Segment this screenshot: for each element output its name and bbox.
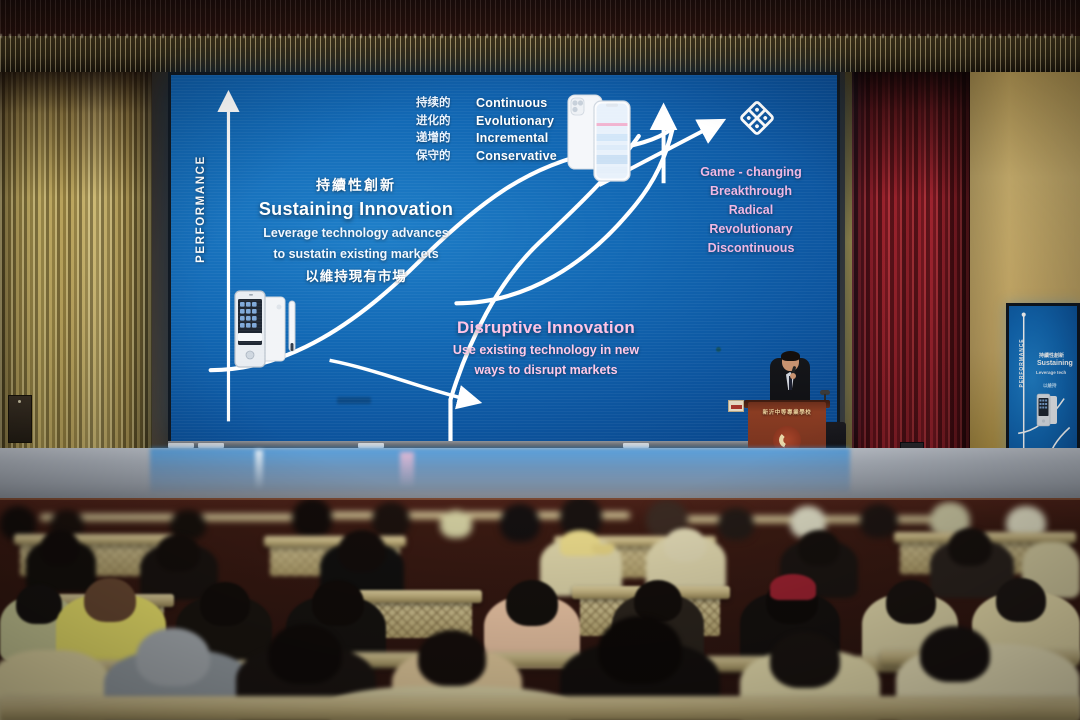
slide-watermark xyxy=(337,397,371,404)
auxiliary-display: PERFORMANCE 持續性創新 Sustaining Leverage te… xyxy=(1006,303,1080,470)
attr-en-1: Evolutionary xyxy=(476,113,557,131)
disruptive-subtitle-line2: ways to disrupt markets xyxy=(421,362,671,378)
attr-cn-0: 持续的 xyxy=(416,95,451,113)
cap-brim-icon xyxy=(592,544,614,555)
red-beanie-icon xyxy=(770,574,816,600)
speaker-hair xyxy=(781,351,800,361)
sustaining-title: Sustaining Innovation xyxy=(231,199,481,220)
aux-cn-heading: 持續性創新 xyxy=(1039,352,1064,359)
audience-head xyxy=(886,580,936,624)
aux-performance-label: PERFORMANCE xyxy=(1019,333,1025,393)
audience-head xyxy=(718,508,754,540)
audience-head xyxy=(770,632,840,688)
knot-diamond-logo-icon xyxy=(739,100,775,136)
stage-pink-reflection xyxy=(400,452,414,488)
disruptive-innovation-block: Disruptive Innovation Use existing techn… xyxy=(421,318,671,378)
audience-head xyxy=(292,500,332,538)
audience-head xyxy=(200,582,250,626)
audience-head xyxy=(506,580,558,626)
game-changing-item-3: Revolutionary xyxy=(676,220,826,239)
attr-cn-3: 保守的 xyxy=(416,148,451,166)
modern-smartphone-icon xyxy=(566,87,638,191)
attr-cn-1: 进化的 xyxy=(416,113,451,131)
performance-axis-label: PERFORMANCE xyxy=(195,149,207,269)
attr-en-3: Conservative xyxy=(476,148,557,166)
sustaining-subtitle-line1: Leverage technology advances xyxy=(231,225,481,241)
audience-head xyxy=(16,584,62,624)
wall-box-indicator-icon xyxy=(18,400,21,403)
presentation-slide: PERFORMANCE 持续的 进化的 递增的 保守的 Continuous E… xyxy=(171,75,837,441)
sustaining-subtitle-line2: to sustatin existing markets xyxy=(231,246,481,262)
audience-head xyxy=(860,504,898,538)
audience-head xyxy=(598,616,682,684)
aux-title: Sustaining xyxy=(1037,360,1073,367)
sustaining-cn-heading: 持續性創新 xyxy=(231,175,481,195)
speaker-hand xyxy=(790,373,796,379)
game-changing-item-1: Breakthrough xyxy=(676,182,826,201)
audience-head xyxy=(440,510,472,538)
audience-hood xyxy=(136,628,210,686)
audience-head xyxy=(996,578,1046,622)
audience-head xyxy=(84,578,136,622)
valance-light-strip xyxy=(0,34,1080,38)
disruptive-subtitle-line1: Use existing technology in new xyxy=(421,342,671,358)
audience-head xyxy=(948,528,992,566)
foreground-bench-rail xyxy=(0,696,1080,720)
stage-highlight-reflection xyxy=(255,450,263,490)
audience-head xyxy=(372,502,410,538)
audience-head xyxy=(40,530,80,566)
audience-head xyxy=(312,580,364,626)
disruptive-title: Disruptive Innovation xyxy=(421,318,671,338)
game-changing-item-2: Radical xyxy=(676,201,826,220)
audience-head xyxy=(338,530,386,572)
slide-speck xyxy=(716,347,721,352)
attribute-english-column: Continuous Evolutionary Incremental Cons… xyxy=(476,95,557,165)
sustaining-cn-subtitle: 以維持現有市場 xyxy=(231,265,481,285)
auxiliary-slide: PERFORMANCE 持續性創新 Sustaining Leverage te… xyxy=(1009,306,1077,467)
attr-en-2: Incremental xyxy=(476,130,557,148)
aux-cn-subtitle: 以維持 xyxy=(1043,383,1057,389)
legacy-smartphone-icon xyxy=(231,283,303,379)
audience-area xyxy=(0,500,1080,720)
audience-head xyxy=(156,534,200,572)
attr-en-0: Continuous xyxy=(476,95,557,113)
audience-head xyxy=(920,626,990,682)
podium-name-plate xyxy=(728,400,744,412)
audience-head xyxy=(798,530,840,566)
aux-phone-icon xyxy=(1036,392,1062,428)
game-changing-item-4: Discontinuous xyxy=(676,239,826,258)
game-changing-list: Game - changing Breakthrough Radical Rev… xyxy=(676,163,826,258)
audience-head xyxy=(418,630,486,686)
sustaining-innovation-block: 持續性創新 Sustaining Innovation Leverage tec… xyxy=(231,175,481,285)
audience-head xyxy=(500,504,540,542)
attribute-chinese-column: 持续的 进化的 递增的 保守的 xyxy=(416,95,451,165)
auditorium-scene: PERFORMANCE 持续的 进化的 递增的 保守的 Continuous E… xyxy=(0,0,1080,720)
aux-subtitle: Leverage tech xyxy=(1036,370,1080,376)
audience-head xyxy=(664,528,706,562)
attr-cn-2: 递增的 xyxy=(416,130,451,148)
red-curtain-right xyxy=(852,62,970,474)
audience-head xyxy=(268,624,342,684)
game-changing-item-0: Game - changing xyxy=(676,163,826,182)
podium-banner-text: 新沂中等專業學校 xyxy=(750,408,824,416)
valance-lower-band xyxy=(0,36,1080,72)
